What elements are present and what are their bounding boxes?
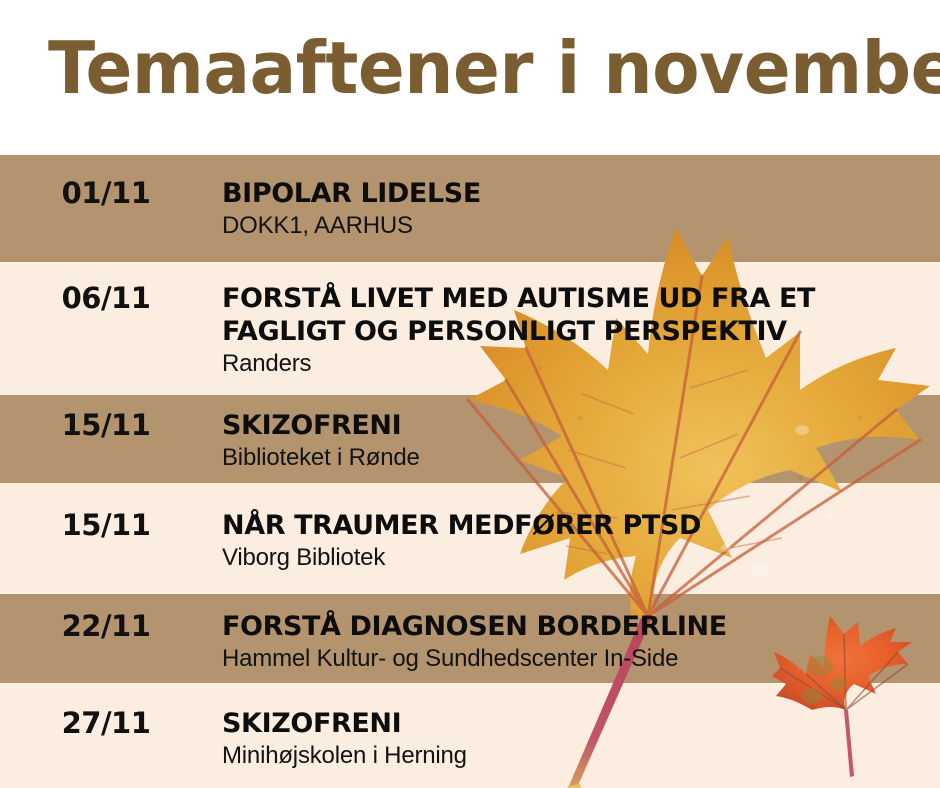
schedule-band-4 — [0, 483, 940, 594]
schedule-band-1 — [0, 155, 940, 262]
poster-header: Temaaftener i november — [0, 0, 940, 155]
poster-canvas: Temaaftener i november 01/11BIPOLAR LIDE… — [0, 0, 940, 788]
schedule-band-2 — [0, 262, 940, 395]
page-title: Temaaftener i november — [48, 26, 940, 110]
schedule-band-6 — [0, 683, 940, 788]
schedule-band-3 — [0, 395, 940, 483]
schedule-band-5 — [0, 594, 940, 683]
schedule-bands — [0, 155, 940, 788]
